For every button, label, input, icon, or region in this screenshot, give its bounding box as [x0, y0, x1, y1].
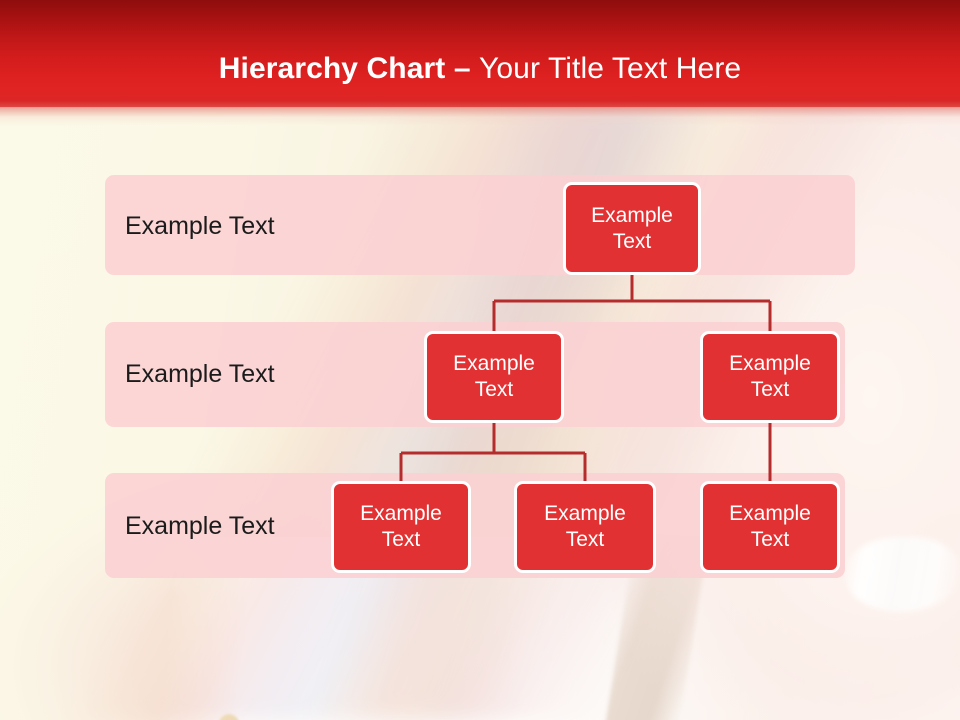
node-label-line2: Text [751, 528, 790, 551]
node-level2-2[interactable]: ExampleText [700, 331, 840, 423]
node-level3-1[interactable]: ExampleText [331, 481, 471, 573]
node-level1-1[interactable]: ExampleText [563, 182, 701, 275]
page-title: Hierarchy Chart – Your Title Text Here [0, 52, 960, 86]
node-level3-2[interactable]: ExampleText [514, 481, 656, 573]
node-label-line2: Text [751, 378, 790, 401]
node-label-line1: Example [360, 502, 442, 525]
node-level2-2-label: ExampleText [729, 351, 811, 403]
node-label-line2: Text [475, 378, 514, 401]
hierarchy-chart: Example Text Example Text Example Text [0, 0, 960, 720]
node-level2-1-label: ExampleText [453, 351, 535, 403]
node-level3-1-label: ExampleText [360, 501, 442, 553]
page-title-light: Your Title Text Here [479, 52, 741, 85]
node-label-line1: Example [729, 502, 811, 525]
node-level1-1-label: ExampleText [591, 203, 673, 255]
node-label-line2: Text [566, 528, 605, 551]
node-label-line1: Example [591, 204, 673, 227]
node-label-line1: Example [544, 502, 626, 525]
page-title-dash: – [454, 52, 479, 85]
node-level3-2-label: ExampleText [544, 501, 626, 553]
node-label-line2: Text [613, 230, 652, 253]
node-label-line1: Example [729, 352, 811, 375]
slide-canvas: Hierarchy Chart – Your Title Text Here E… [0, 0, 960, 720]
node-level2-1[interactable]: ExampleText [424, 331, 564, 423]
node-label-line2: Text [382, 528, 421, 551]
node-level3-3-label: ExampleText [729, 501, 811, 553]
node-level3-3[interactable]: ExampleText [700, 481, 840, 573]
page-title-bold: Hierarchy Chart [219, 52, 454, 85]
node-label-line1: Example [453, 352, 535, 375]
